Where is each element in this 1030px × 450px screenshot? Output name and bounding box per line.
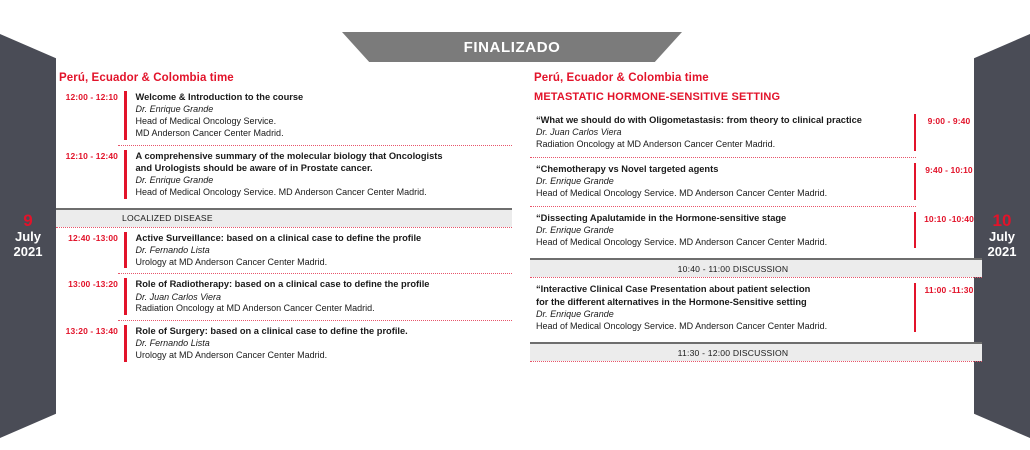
session-title: Active Surveillance: based on a clinical… (136, 232, 513, 244)
session-speaker: Dr. Enrique Grande (536, 225, 906, 237)
session-title: Role of Surgery: based on a clinical cas… (136, 325, 513, 337)
agenda-row[interactable]: 12:10 - 12:40 A comprehensive summary of… (56, 146, 512, 204)
session-affiliation: Radiation Oncology at MD Anderson Cancer… (536, 139, 906, 151)
session-body: “Interactive Clinical Case Presentation … (530, 283, 914, 332)
timezone-heading-right: Perú, Ecuador & Colombia time (534, 72, 982, 84)
discussion-band-label: 11:30 - 12:00 DISCUSSION (530, 348, 982, 358)
session-body: “What we should do with Oligometastasis:… (530, 114, 914, 151)
agenda-row[interactable]: 12:00 - 12:10 Welcome & Introduction to … (56, 87, 512, 145)
section-band-label: LOCALIZED DISEASE (122, 213, 213, 223)
session-time: 12:10 - 12:40 (56, 150, 124, 161)
session-affiliation: Head of Medical Oncology Service. MD And… (536, 321, 906, 333)
date-tab-day-2[interactable]: 10 July 2021 (974, 34, 1030, 438)
agenda-row[interactable]: 13:00 -13:20 Role of Radiotherapy: based… (56, 274, 512, 320)
session-title: Welcome & Introduction to the course (136, 91, 513, 103)
agenda-row[interactable]: “Interactive Clinical Case Presentation … (530, 278, 982, 338)
session-affiliation: Head of Medical Oncology Service. MD And… (536, 237, 906, 249)
status-banner: FINALIZADO (342, 32, 682, 62)
section-band-localized-disease: LOCALIZED DISEASE (56, 208, 512, 227)
session-time: 13:00 -13:20 (56, 278, 124, 289)
discussion-band-2: 11:30 - 12:00 DISCUSSION (530, 342, 982, 361)
date-tab-day-1[interactable]: 9 July 2021 (0, 34, 56, 438)
agenda-row[interactable]: “Dissecting Apalutamide in the Hormone-s… (530, 207, 982, 255)
session-time: 11:00 -11:30 (916, 283, 982, 332)
session-body: “Chemotherapy vs Novel targeted agents D… (530, 163, 914, 200)
session-speaker: Dr. Juan Carlos Viera (536, 127, 906, 139)
session-body: Active Surveillance: based on a clinical… (127, 232, 513, 269)
agenda-row[interactable]: 12:40 -13:00 Active Surveillance: based … (56, 228, 512, 274)
session-time: 10:10 -10:40 (916, 212, 982, 249)
session-title: “What we should do with Oligometastasis:… (536, 114, 906, 126)
discussion-band-wrapper: 10:40 - 11:00 DISCUSSION (530, 258, 982, 278)
session-affiliation: Radiation Oncology at MD Anderson Cancer… (136, 303, 513, 315)
session-time: 12:40 -13:00 (56, 232, 124, 243)
session-speaker: Dr. Enrique Grande (536, 176, 906, 188)
session-title: A comprehensive summary of the molecular… (136, 150, 513, 162)
session-title: “Dissecting Apalutamide in the Hormone-s… (536, 212, 906, 224)
session-affiliation: Head of Medical Oncology Service. MD And… (536, 188, 906, 200)
agenda-row[interactable]: “What we should do with Oligometastasis:… (530, 109, 982, 157)
session-body: Role of Radiotherapy: based on a clinica… (127, 278, 513, 315)
session-affiliation: Urology at MD Anderson Cancer Center Mad… (136, 257, 513, 269)
session-title: and Urologists should be aware of in Pro… (136, 162, 513, 174)
discussion-band-1: 10:40 - 11:00 DISCUSSION (530, 258, 982, 277)
session-time: 9:40 - 10:10 (916, 163, 982, 200)
session-speaker: Dr. Fernando Lista (136, 245, 513, 257)
session-speaker: Dr. Juan Carlos Viera (136, 292, 513, 304)
session-time: 13:20 - 13:40 (56, 325, 124, 336)
session-affiliation: Urology at MD Anderson Cancer Center Mad… (136, 350, 513, 362)
date-tab-day-2-day: 10 (993, 212, 1012, 230)
agenda-column-day-1: Perú, Ecuador & Colombia time 12:00 - 12… (56, 72, 512, 367)
session-body: “Dissecting Apalutamide in the Hormone-s… (530, 212, 914, 249)
section-band-wrapper: LOCALIZED DISEASE (56, 208, 512, 228)
date-tab-day-2-month: July (989, 230, 1015, 245)
session-speaker: Dr. Enrique Grande (536, 309, 906, 321)
date-tab-day-1-month: July (15, 230, 41, 245)
session-title: “Chemotherapy vs Novel targeted agents (536, 163, 906, 175)
discussion-band-wrapper: 11:30 - 12:00 DISCUSSION (530, 342, 982, 362)
agenda-row[interactable]: “Chemotherapy vs Novel targeted agents D… (530, 158, 982, 206)
date-tab-day-1-day: 9 (23, 212, 32, 230)
session-affiliation: MD Anderson Cancer Center Madrid. (136, 128, 513, 140)
timezone-heading-left: Perú, Ecuador & Colombia time (59, 72, 512, 84)
session-body: A comprehensive summary of the molecular… (127, 150, 513, 199)
discussion-band-label: 10:40 - 11:00 DISCUSSION (530, 264, 982, 274)
discussion-band-divider (530, 361, 982, 362)
date-tab-day-2-year: 2021 (988, 245, 1017, 260)
session-body: Role of Surgery: based on a clinical cas… (127, 325, 513, 362)
session-speaker: Dr. Enrique Grande (136, 175, 513, 187)
status-banner-label: FINALIZADO (464, 39, 561, 56)
session-time: 12:00 - 12:10 (56, 91, 124, 102)
section-heading-metastatic: METASTATIC HORMONE-SENSITIVE SETTING (534, 91, 982, 103)
session-title: “Interactive Clinical Case Presentation … (536, 283, 906, 295)
session-time: 9:00 - 9:40 (916, 114, 982, 151)
session-title: for the different alternatives in the Ho… (536, 296, 906, 308)
date-tab-day-1-year: 2021 (14, 245, 43, 260)
agenda-row[interactable]: 13:20 - 13:40 Role of Surgery: based on … (56, 321, 512, 367)
session-title: Role of Radiotherapy: based on a clinica… (136, 278, 513, 290)
session-speaker: Dr. Enrique Grande (136, 104, 513, 116)
session-speaker: Dr. Fernando Lista (136, 338, 513, 350)
session-affiliation: Head of Medical Oncology Service. (136, 116, 513, 128)
session-affiliation: Head of Medical Oncology Service. MD And… (136, 187, 513, 199)
agenda-column-day-2: Perú, Ecuador & Colombia time METASTATIC… (530, 72, 982, 362)
session-body: Welcome & Introduction to the course Dr.… (127, 91, 513, 140)
